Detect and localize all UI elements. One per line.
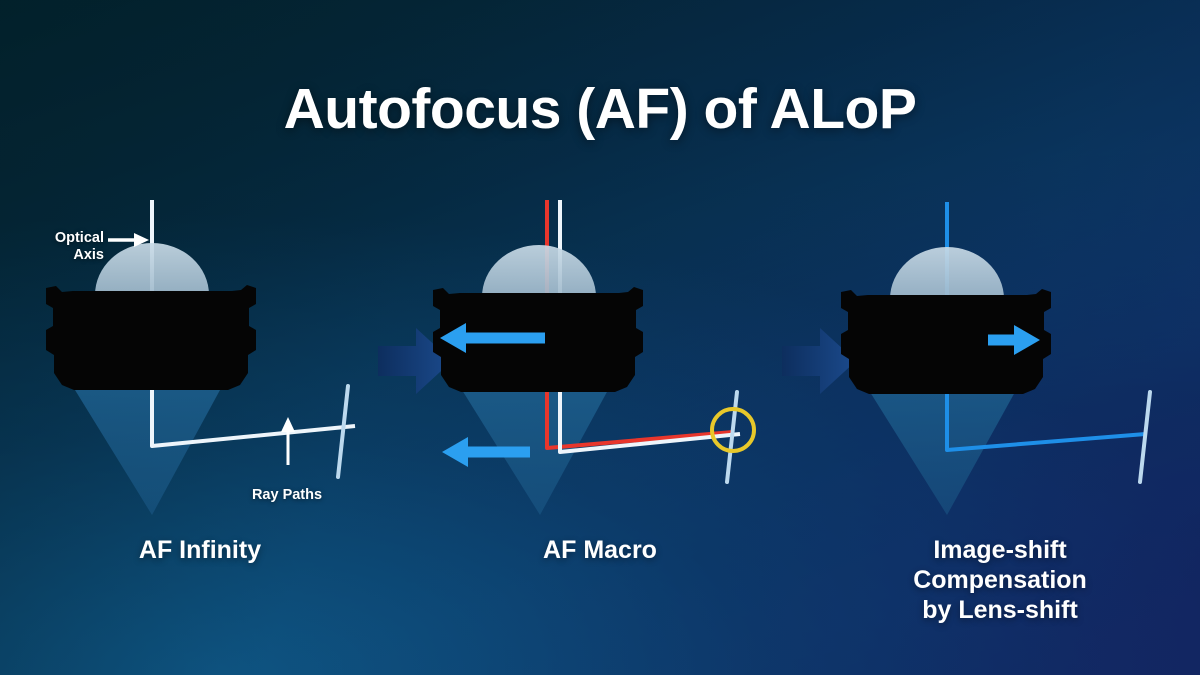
- caption-line: AF Infinity: [0, 535, 400, 565]
- panel-af-macro: AF Macro: [400, 180, 800, 660]
- panel-image-shift-compensation: Image-shift Compensation by Lens-shift: [800, 180, 1200, 660]
- panel-caption-af-macro: AF Macro: [400, 535, 800, 565]
- diagram-af-macro: [400, 180, 800, 540]
- page-title: Autofocus (AF) of ALoP: [0, 76, 1200, 142]
- caption-line: Compensation: [800, 565, 1200, 595]
- panel-caption-af-infinity: AF Infinity: [0, 535, 400, 565]
- ray-paths-callout: Ray Paths: [232, 487, 342, 504]
- light-cone: [75, 390, 220, 515]
- lens-dome: [95, 243, 209, 295]
- lens-dome: [890, 247, 1004, 299]
- lens-dome: [482, 245, 596, 297]
- sensor-plane-line: [1140, 392, 1150, 482]
- optical-axis-callout: Optical Axis: [26, 230, 104, 264]
- caption-line: by Lens-shift: [800, 595, 1200, 625]
- light-cone: [870, 392, 1015, 515]
- panel-caption-image-shift-compensation: Image-shift Compensation by Lens-shift: [800, 535, 1200, 625]
- diagram-image-shift-compensation: [800, 180, 1200, 540]
- caption-line: AF Macro: [400, 535, 800, 565]
- optical-axis-line-2: Axis: [26, 247, 104, 264]
- lens-assembly: [46, 243, 256, 390]
- lens-assembly: [433, 245, 643, 392]
- sensor-plane-line: [338, 386, 348, 477]
- caption-line: Image-shift: [800, 535, 1200, 565]
- slide-canvas: Autofocus (AF) of ALoP: [0, 0, 1200, 675]
- ray-paths-pointer-arrow: [281, 417, 295, 465]
- optical-axis-line-1: Optical: [26, 230, 104, 247]
- lens-body: [46, 285, 256, 390]
- lens-assembly: [841, 247, 1051, 394]
